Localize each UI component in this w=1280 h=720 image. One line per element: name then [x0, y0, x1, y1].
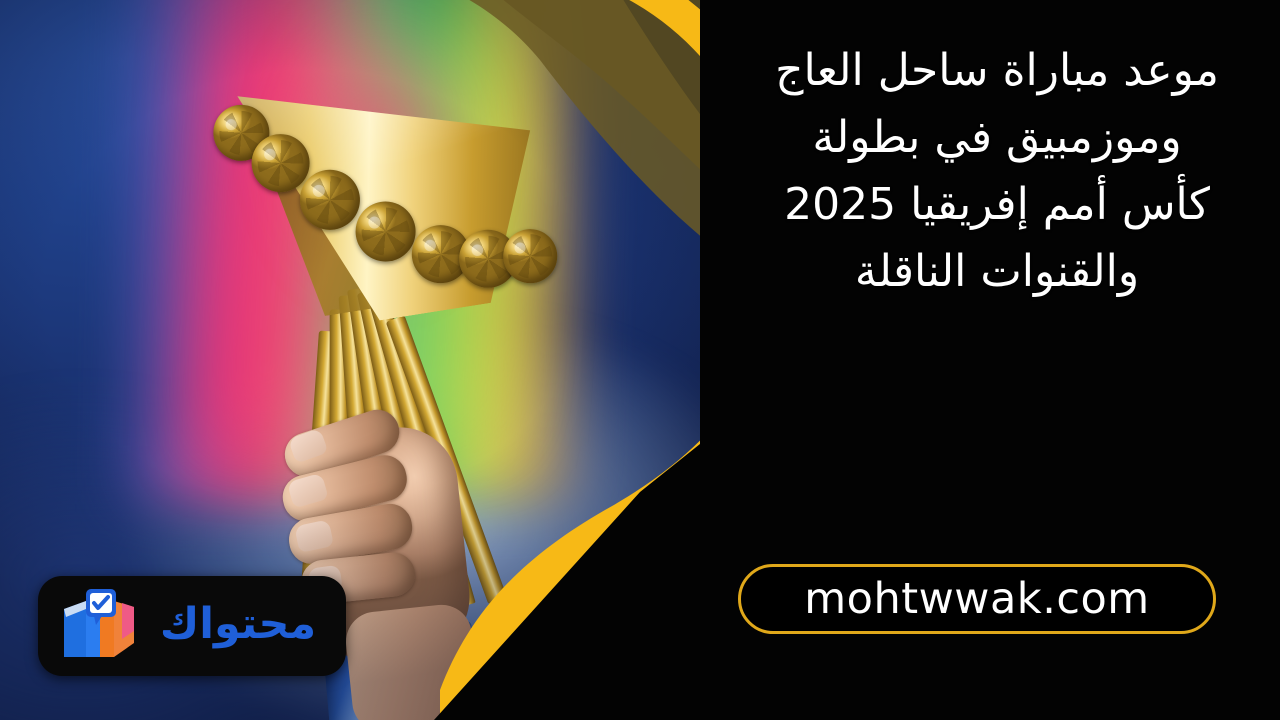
website-url-pill[interactable]: mohtwwak.com	[738, 564, 1216, 634]
hand-wrist	[343, 602, 481, 720]
brand-wordmark: محتواك	[146, 603, 330, 650]
trophy-bowl	[215, 27, 585, 355]
website-url-label: mohtwwak.com	[804, 574, 1149, 624]
thumbnail-canvas: موعد مباراة ساحل العاج وموزمبيق في بطولة…	[0, 0, 1280, 720]
brand-logo-badge[interactable]: محتواك	[38, 576, 346, 676]
book-check-logo-icon	[56, 587, 140, 665]
page-title: موعد مباراة ساحل العاج وموزمبيق في بطولة…	[762, 38, 1232, 306]
